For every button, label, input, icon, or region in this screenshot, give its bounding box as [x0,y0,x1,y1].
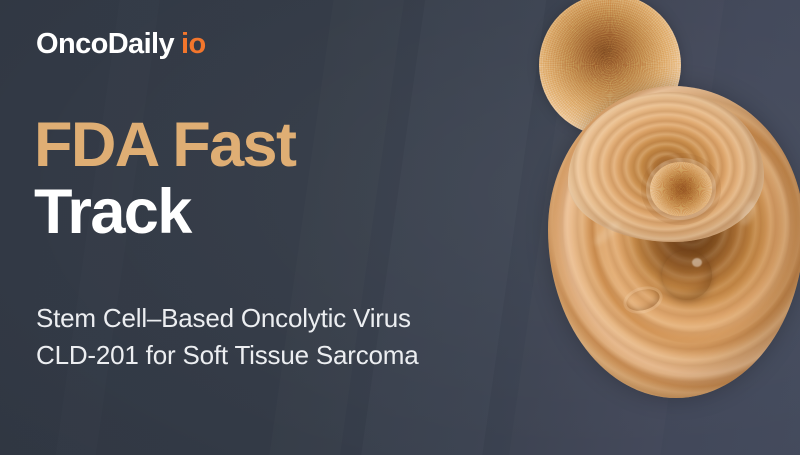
subtitle-line-2: CLD-201 for Soft Tissue Sarcoma [36,337,419,374]
brand-name: OncoDaily [36,28,174,60]
subtitle-line-1: Stem Cell–Based Oncolytic Virus [36,300,419,337]
brand-logo[interactable]: OncoDailyio [36,30,206,59]
page-title: FDA Fast Track [34,112,295,246]
brand-suffix: io [181,28,206,60]
headline-line-1: FDA Fast [34,112,295,179]
social-card: OncoDailyio FDA Fast Track Stem Cell–Bas… [0,0,800,455]
page-subtitle: Stem Cell–Based Oncolytic Virus CLD-201 … [36,300,419,374]
headline-line-2: Track [34,179,295,246]
